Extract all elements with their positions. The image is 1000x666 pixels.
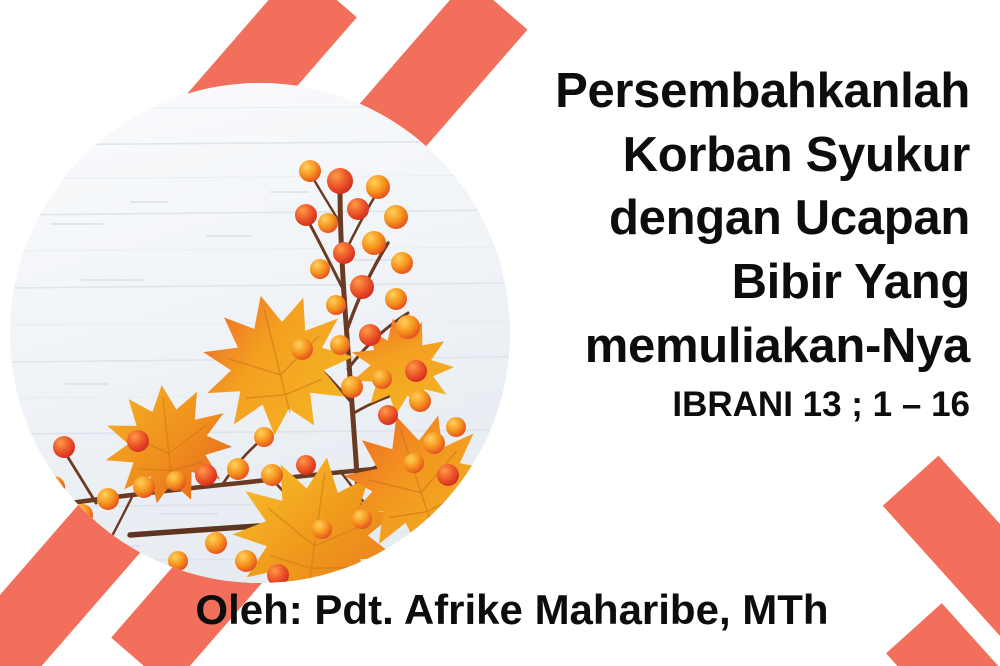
autumn-photo-circle [10,83,510,583]
headline-line-2: Korban Syukur [470,124,970,188]
scripture-reference: IBRANI 13 ; 1 – 16 [470,384,970,426]
autumn-photo-illustration [10,83,510,583]
headline-line-1: Persembahkanlah [470,60,970,124]
headline-line-5: memuliakan-Nya [470,315,970,379]
page-title: Persembahkanlah Korban Syukur dengan Uca… [470,60,970,378]
presenter-credit: Oleh: Pdt. Afrike Maharibe, MTh [0,586,1000,634]
title-text-block: Persembahkanlah Korban Syukur dengan Uca… [470,60,970,426]
headline-line-4: Bibir Yang [470,251,970,315]
sermon-title-slide: Persembahkanlah Korban Syukur dengan Uca… [0,0,1000,666]
headline-line-3: dengan Ucapan [470,187,970,251]
